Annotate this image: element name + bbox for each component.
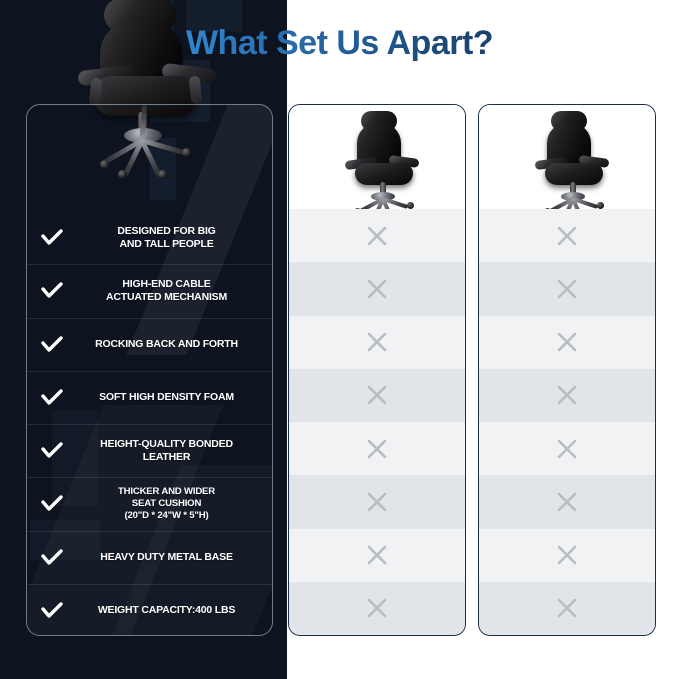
comparison-infographic: What Set Us Apart? DESIGNED FOR BIG AND … xyxy=(0,0,679,679)
feature-list: DESIGNED FOR BIG AND TALL PEOPLEHIGH-END… xyxy=(27,211,272,636)
cross-icon xyxy=(366,544,388,566)
check-icon xyxy=(31,389,73,407)
check-icon xyxy=(31,602,73,620)
comparison-cell xyxy=(289,529,465,582)
feature-label: THICKER AND WIDER SEAT CUSHION (20"D * 2… xyxy=(73,486,272,522)
cross-icon xyxy=(366,278,388,300)
cross-icon xyxy=(366,384,388,406)
competitor-1-chair-image xyxy=(337,109,429,209)
feature-row: SOFT HIGH DENSITY FOAM xyxy=(27,371,272,424)
feature-row: DESIGNED FOR BIG AND TALL PEOPLE xyxy=(27,211,272,264)
check-icon xyxy=(31,442,73,460)
feature-label: DESIGNED FOR BIG AND TALL PEOPLE xyxy=(73,225,272,251)
feature-label: HEAVY DUTY METAL BASE xyxy=(73,551,272,564)
feature-row: WEIGHT CAPACITY:400 LBS xyxy=(27,584,272,636)
comparison-cell xyxy=(289,422,465,475)
comparison-cell xyxy=(289,316,465,369)
check-icon xyxy=(31,229,73,247)
cross-icon xyxy=(556,225,578,247)
check-icon xyxy=(31,282,73,300)
feature-row: HEAVY DUTY METAL BASE xyxy=(27,531,272,584)
our-product-image-area xyxy=(27,105,272,211)
page-title: What Set Us Apart? xyxy=(0,20,679,66)
competitor-2-chair-image xyxy=(527,109,619,209)
cross-icon xyxy=(556,384,578,406)
comparison-cell xyxy=(289,582,465,635)
cross-icon xyxy=(556,491,578,513)
comparison-cell xyxy=(479,262,655,315)
check-icon xyxy=(31,549,73,567)
comparison-cell xyxy=(289,475,465,528)
feature-row: HIGH-END CABLE ACTUATED MECHANISM xyxy=(27,264,272,317)
cross-icon xyxy=(556,597,578,619)
comparison-cell xyxy=(289,369,465,422)
comparison-cell xyxy=(479,582,655,635)
our-product-feature-panel: DESIGNED FOR BIG AND TALL PEOPLEHIGH-END… xyxy=(26,104,273,636)
cross-icon xyxy=(366,597,388,619)
cross-icon xyxy=(366,225,388,247)
feature-row: THICKER AND WIDER SEAT CUSHION (20"D * 2… xyxy=(27,477,272,530)
comparison-cell xyxy=(479,422,655,475)
competitor-1-rows xyxy=(289,209,465,635)
comparison-cell xyxy=(479,529,655,582)
comparison-cell xyxy=(479,475,655,528)
competitor-2-image-area xyxy=(479,105,655,209)
comparison-cell xyxy=(479,209,655,262)
competitor-column-2 xyxy=(478,104,656,636)
comparison-cell xyxy=(479,369,655,422)
feature-label: WEIGHT CAPACITY:400 LBS xyxy=(73,604,272,617)
cross-icon xyxy=(556,278,578,300)
comparison-cell xyxy=(479,316,655,369)
cross-icon xyxy=(366,438,388,460)
cross-icon xyxy=(556,438,578,460)
feature-label: ROCKING BACK AND FORTH xyxy=(73,338,272,351)
feature-label: HEIGHT-QUALITY BONDED LEATHER xyxy=(73,438,272,464)
cross-icon xyxy=(366,331,388,353)
feature-label: HIGH-END CABLE ACTUATED MECHANISM xyxy=(73,278,272,304)
check-icon xyxy=(31,336,73,354)
cross-icon xyxy=(366,491,388,513)
feature-row: ROCKING BACK AND FORTH xyxy=(27,318,272,371)
comparison-cell xyxy=(289,209,465,262)
cross-icon xyxy=(556,331,578,353)
comparison-cell xyxy=(289,262,465,315)
feature-label: SOFT HIGH DENSITY FOAM xyxy=(73,391,272,404)
competitor-2-rows xyxy=(479,209,655,635)
feature-row: HEIGHT-QUALITY BONDED LEATHER xyxy=(27,424,272,477)
competitor-1-image-area xyxy=(289,105,465,209)
check-icon xyxy=(31,495,73,513)
competitor-column-1 xyxy=(288,104,466,636)
cross-icon xyxy=(556,544,578,566)
